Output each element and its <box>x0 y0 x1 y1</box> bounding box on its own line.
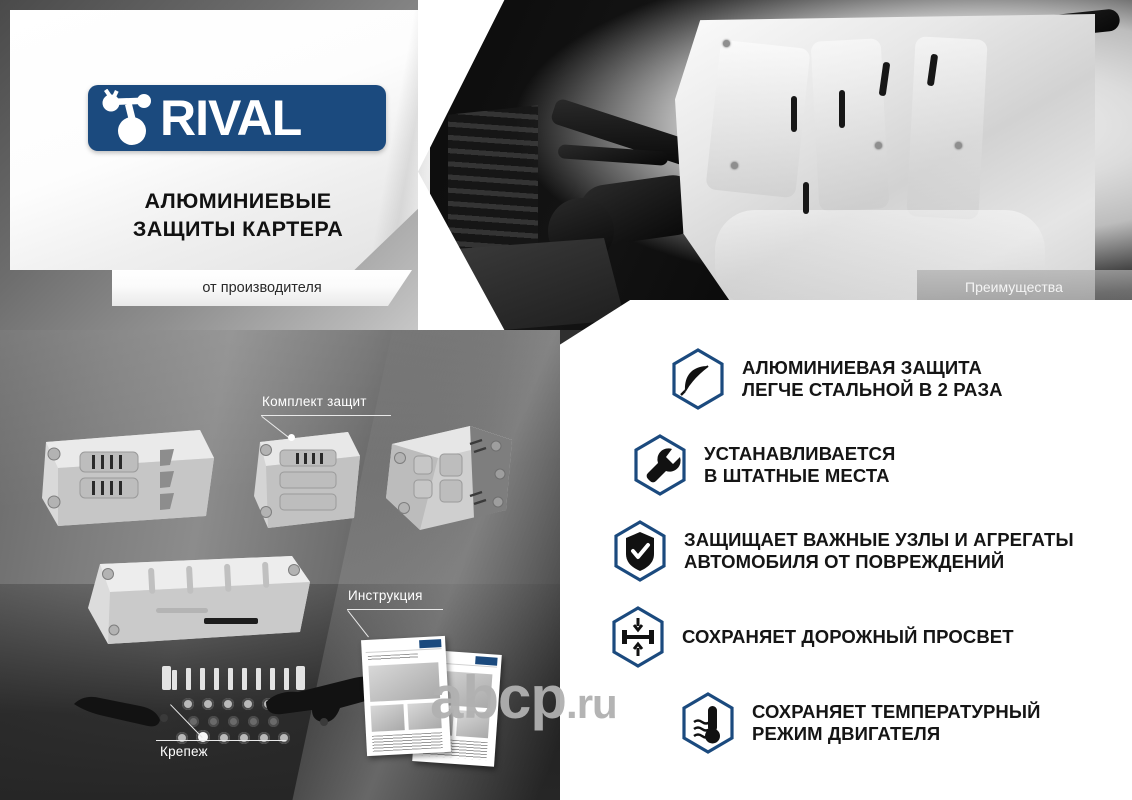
callout-fasteners-underline <box>156 740 286 741</box>
callout-instruction-label: Инструкция <box>348 588 423 603</box>
features-panel: АЛЮМИНИЕВАЯ ЗАЩИТА ЛЕГЧЕ СТАЛЬНОЙ В 2 РА… <box>520 300 1132 800</box>
plate-vent-slot <box>839 90 845 128</box>
callout-instruction-text: Инструкция <box>348 588 423 603</box>
feature-text: СОХРАНЯЕТ ДОРОЖНЫЙ ПРОСВЕТ <box>682 626 1014 648</box>
headline-line-2: ЗАЩИТЫ КАРТЕРА <box>88 216 388 244</box>
molecule-icon <box>98 89 164 147</box>
plate-vent-slot <box>791 96 797 132</box>
skid-plate-right <box>378 418 518 542</box>
feature-item: УСТАНАВЛИВАЕТСЯ В ШТАТНЫЕ МЕСТА <box>632 434 1112 496</box>
page-title: АЛЮМИНИЕВЫЕ ЗАЩИТЫ КАРТЕРА <box>88 188 388 243</box>
callout-fasteners-label: Крепеж <box>160 744 208 759</box>
thermometer-icon <box>680 692 736 754</box>
ribbon-label: от производителя <box>202 280 321 296</box>
plate-bolt <box>723 40 730 47</box>
plate-bolt <box>955 142 962 149</box>
advantages-tab: Преимущества <box>917 270 1132 303</box>
features-list: АЛЮМИНИЕВАЯ ЗАЩИТА ЛЕГЧЕ СТАЛЬНОЙ В 2 РА… <box>612 348 1112 778</box>
plate-bolt <box>731 162 738 169</box>
feature-text: УСТАНАВЛИВАЕТСЯ В ШТАТНЫЕ МЕСТА <box>704 443 895 487</box>
brand-name: RIVAL <box>160 93 301 143</box>
callout-fasteners-text: Крепеж <box>160 744 208 759</box>
feature-text: АЛЮМИНИЕВАЯ ЗАЩИТА ЛЕГЧЕ СТАЛЬНОЙ В 2 РА… <box>742 357 1003 401</box>
skid-plate-bottom <box>78 546 318 656</box>
wrench-icon <box>632 434 688 496</box>
shield-check-icon <box>612 520 668 582</box>
instruction-sheet-front <box>361 636 451 756</box>
promo-banner: RIVAL АЛЮМИНИЕВЫЕ ЗАЩИТЫ КАРТЕРА от прои… <box>0 0 1132 800</box>
leaf-icon <box>670 348 726 410</box>
skid-plate-center <box>248 422 366 540</box>
product-showcase: Комплект защит Инструкция Крепеж <box>0 330 560 800</box>
advantages-tab-label: Преимущества <box>965 279 1063 295</box>
feature-item: АЛЮМИНИЕВАЯ ЗАЩИТА ЛЕГЧЕ СТАЛЬНОЙ В 2 РА… <box>670 348 1112 410</box>
plate-vent-slot <box>803 182 809 214</box>
feature-item: СОХРАНЯЕТ ДОРОЖНЫЙ ПРОСВЕТ <box>610 606 1112 668</box>
plate-bolt <box>875 142 882 149</box>
callout-instruction-underline <box>347 609 443 610</box>
ground-clearance-icon <box>610 606 666 668</box>
callout-kit-text: Комплект защит <box>262 394 367 409</box>
manufacturer-ribbon: от производителя <box>112 270 412 306</box>
feature-text: СОХРАНЯЕТ ТЕМПЕРАТУРНЫЙ РЕЖИМ ДВИГАТЕЛЯ <box>752 701 1041 745</box>
callout-kit-label: Комплект защит <box>262 394 367 409</box>
rival-logo: RIVAL <box>88 85 386 151</box>
feature-text: ЗАЩИЩАЕТ ВАЖНЫЕ УЗЛЫ И АГРЕГАТЫ АВТОМОБИ… <box>684 529 1074 573</box>
mounting-bracket-left <box>70 682 180 732</box>
callout-kit-dot <box>288 434 295 441</box>
skid-plate-left <box>28 420 218 540</box>
feature-item: ЗАЩИЩАЕТ ВАЖНЫЕ УЗЛЫ И АГРЕГАТЫ АВТОМОБИ… <box>612 520 1112 582</box>
headline-line-1: АЛЮМИНИЕВЫЕ <box>88 188 388 216</box>
feature-item: СОХРАНЯЕТ ТЕМПЕРАТУРНЫЙ РЕЖИМ ДВИГАТЕЛЯ <box>680 692 1112 754</box>
callout-kit-underline <box>261 415 391 416</box>
